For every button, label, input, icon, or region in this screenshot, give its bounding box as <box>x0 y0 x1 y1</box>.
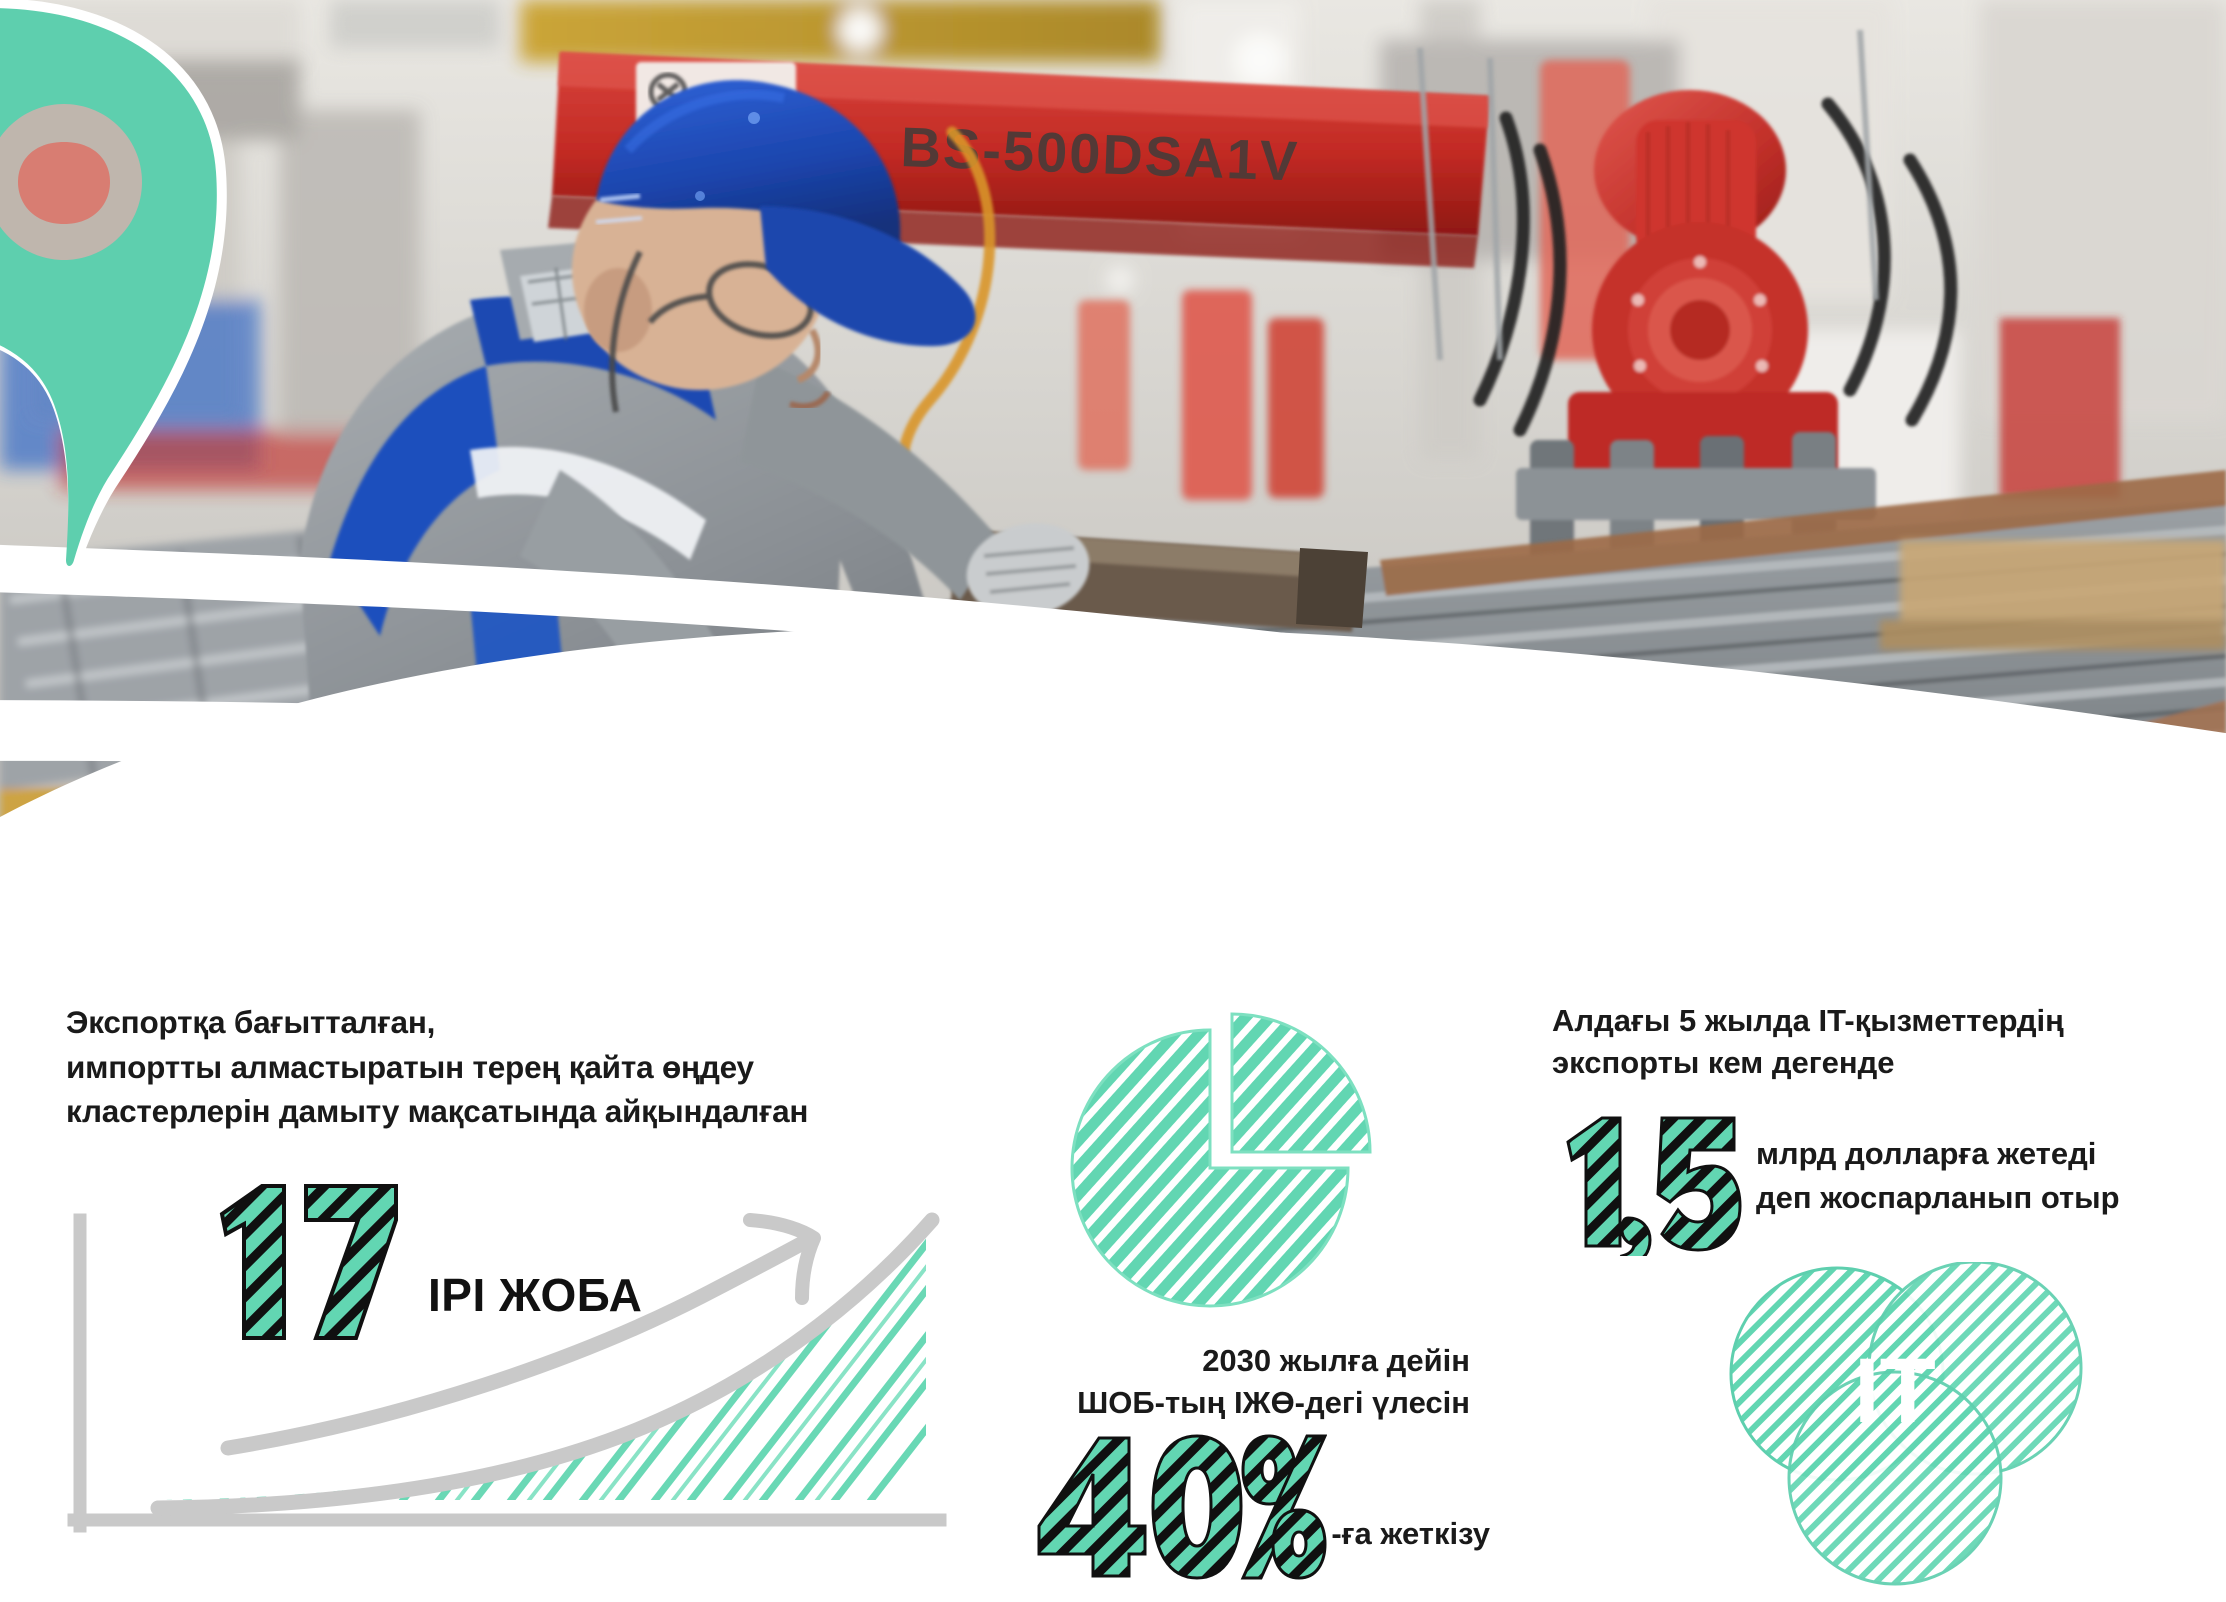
block-it-export: Алдағы 5 жылда IT-қызметтердің экспорты … <box>1552 1000 2212 1600</box>
block-sme-gdp: 2030 жылға дейін ШОБ-тың ІЖӨ-дегі үлесін <box>960 1000 1560 1600</box>
mid-text: 2030 жылға дейін ШОБ-тың ІЖӨ-дегі үлесін <box>950 1340 1470 1423</box>
left-lead-text: Экспортқа бағытталған, импортты алмастыр… <box>66 1000 976 1134</box>
pie-chart <box>1060 1008 1390 1338</box>
stat-40-suffix: -ға жеткізу <box>1331 1516 1490 1552</box>
hero-photo: BS-500DSA1V <box>0 0 2226 1010</box>
growth-chart: ІРІ ЖОБА <box>60 1180 990 1570</box>
it-venn-diagram: IT <box>1717 1262 2137 1592</box>
infographic-root: BS-500DSA1V <box>0 0 2226 1602</box>
stat-17-group: ІРІ ЖОБА <box>210 1170 642 1348</box>
stat-15-group: млрд долларға жетеді деп жоспарланып оты… <box>1562 1110 2120 1256</box>
block-large-projects: Экспортқа бағытталған, импортты алмастыр… <box>66 1000 976 1600</box>
right-lead-text: Алдағы 5 жылда IT-қызметтердің экспорты … <box>1552 1000 2212 1084</box>
stat-17-number <box>210 1170 420 1348</box>
stat-15-text: млрд долларға жетеді деп жоспарланып оты… <box>1756 1132 2120 1220</box>
pie-chart-svg <box>1060 1008 1390 1338</box>
venn-label: IT <box>1854 1340 1936 1442</box>
stat-17-unit: ІРІ ЖОБА <box>428 1268 642 1322</box>
stat-15-number <box>1562 1110 1742 1256</box>
stat-40-group: -ға жеткізу <box>930 1430 1490 1580</box>
brand-logo-icon <box>0 0 290 612</box>
stat-40-number <box>1037 1430 1327 1580</box>
pie-slice-exploded <box>1232 1014 1370 1152</box>
content-area: Экспортқа бағытталған, импортты алмастыр… <box>0 1000 2226 1602</box>
hero-photo-illustration: BS-500DSA1V <box>0 0 2226 1010</box>
it-venn-svg: IT <box>1717 1262 2137 1592</box>
